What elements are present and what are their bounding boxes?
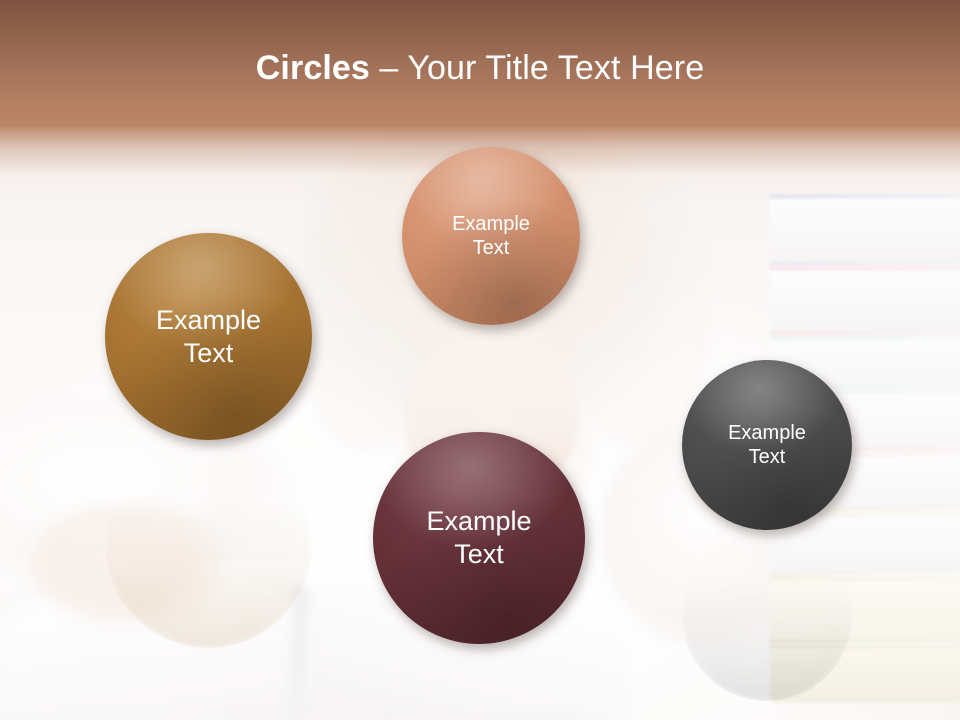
photo-book-edge <box>770 577 960 580</box>
photo-book-8 <box>770 645 960 703</box>
circle-top-label: Example Text <box>444 212 538 261</box>
photo-book-edge <box>770 640 960 643</box>
page-title: Circles – Your Title Text Here <box>0 48 960 88</box>
circle-top[interactable]: Example Text <box>402 147 580 325</box>
photo-book-edge <box>770 572 960 575</box>
photo-book-2 <box>770 267 960 335</box>
circle-right-label-line1: Example <box>728 422 806 444</box>
circle-top-label-line1: Example <box>452 213 530 235</box>
circle-right[interactable]: Example Text <box>682 360 852 530</box>
page-title-strong: Circles <box>256 49 370 87</box>
circle-left[interactable]: Example Text <box>105 233 312 440</box>
circle-bottom-label-line2: Text <box>454 539 504 569</box>
circle-right-label-line2: Text <box>749 446 786 468</box>
slide-canvas: Circles – Your Title Text Here Example T… <box>0 0 960 720</box>
photo-book-edge <box>770 262 960 265</box>
page-title-rest: – Your Title Text Here <box>370 49 704 87</box>
circle-left-label: Example Text <box>148 304 269 370</box>
photo-book-edge <box>770 267 960 270</box>
photo-book-edge <box>770 195 960 198</box>
photo-book-edge <box>770 332 960 335</box>
circle-right-label: Example Text <box>720 421 814 470</box>
circle-bottom-label-line1: Example <box>426 506 531 536</box>
photo-book-1 <box>770 195 960 265</box>
circle-left-label-line2: Text <box>184 338 234 368</box>
circle-left-label-line1: Example <box>156 305 261 335</box>
circle-top-label-line2: Text <box>473 237 510 259</box>
photo-book-7 <box>770 577 960 643</box>
photo-book-edge <box>770 337 960 340</box>
circle-bottom[interactable]: Example Text <box>373 432 585 644</box>
circle-bottom-label: Example Text <box>418 505 539 571</box>
photo-book-edge <box>770 645 960 648</box>
